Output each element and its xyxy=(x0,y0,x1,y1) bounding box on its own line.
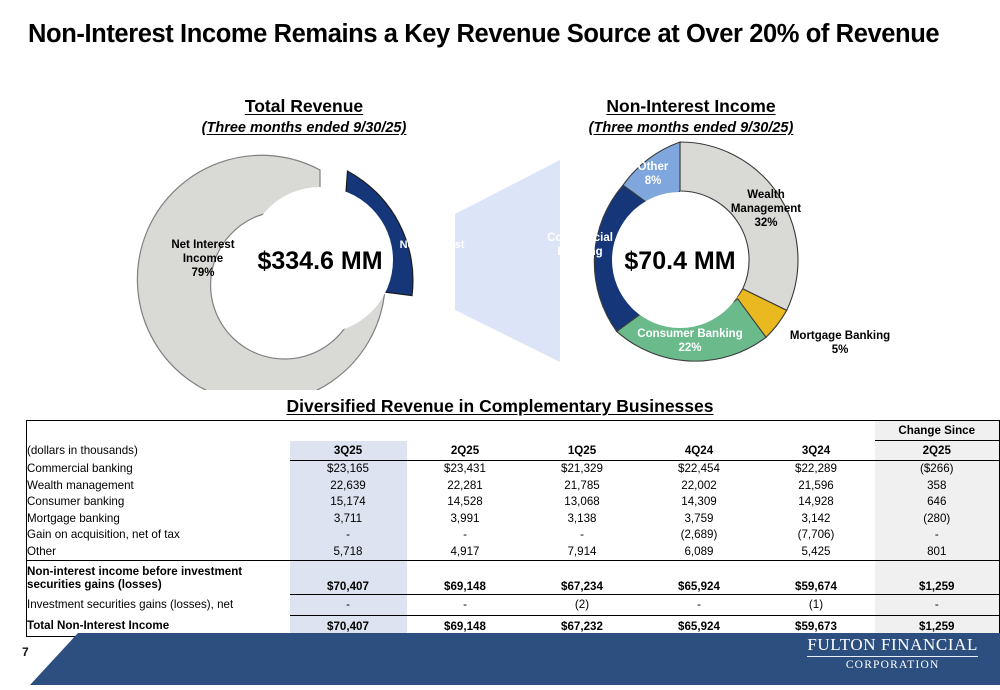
svg-text:Management: Management xyxy=(731,203,801,215)
right-slice-value-wealth: 32% xyxy=(754,217,777,229)
securities-label: Investment securities gains (losses), ne… xyxy=(27,595,290,616)
row-label: Mortgage banking xyxy=(27,511,290,528)
col-header-4q24: 4Q24 xyxy=(641,441,758,461)
table-row: Mortgage banking 3,711 3,991 3,138 3,759… xyxy=(27,511,1000,528)
table-securities-row: Investment securities gains (losses), ne… xyxy=(27,595,1000,616)
cell-3q25: 15,174 xyxy=(290,494,407,511)
right-slice-value-commercial: 33% xyxy=(568,260,591,272)
charts-area: $334.6 MM Net Interest Income 79% Non-In… xyxy=(0,130,1000,390)
cell-3q24: $22,289 xyxy=(758,461,875,478)
cell-3q25: - xyxy=(290,527,407,544)
cell-3q25: 3,711 xyxy=(290,511,407,528)
cell-change: 358 xyxy=(875,478,1000,495)
subtotal-3q24: $59,674 xyxy=(758,561,875,595)
cell-1q25: 3,138 xyxy=(524,511,641,528)
cell-1q25: - xyxy=(524,527,641,544)
svg-text:Banking: Banking xyxy=(557,246,602,258)
securities-4q24: - xyxy=(641,595,758,616)
cell-4q24: $22,454 xyxy=(641,461,758,478)
right-slice-label-wealth: Wealth xyxy=(747,189,785,201)
securities-1q25: (2) xyxy=(524,595,641,616)
cell-change: (280) xyxy=(875,511,1000,528)
logo-secondary-text: CORPORATION xyxy=(807,659,978,671)
table-row: Gain on acquisition, net of tax - - - (2… xyxy=(27,527,1000,544)
cell-4q24: 22,002 xyxy=(641,478,758,495)
row-label: Wealth management xyxy=(27,478,290,495)
row-label: Commercial banking xyxy=(27,461,290,478)
units-note: (dollars in thousands) xyxy=(27,441,290,461)
col-header-3q25: 3Q25 xyxy=(290,441,407,461)
cell-3q24: 5,425 xyxy=(758,544,875,561)
page-number: 7 xyxy=(22,645,29,659)
securities-change: - xyxy=(875,595,1000,616)
financial-table: Change Since (dollars in thousands) 3Q25… xyxy=(26,420,1000,637)
left-slice-label-net-interest: Net Interest xyxy=(171,239,234,251)
company-logo: FULTON FINANCIAL CORPORATION xyxy=(807,635,978,671)
change-since-header: Change Since xyxy=(875,421,1000,441)
col-header-3q24: 3Q24 xyxy=(758,441,875,461)
left-slice-value-net-interest: 79% xyxy=(191,267,214,279)
right-donut-chart: $70.4 MM Wealth Management 32% Mortgage … xyxy=(547,142,890,361)
subtotal-2q25: $69,148 xyxy=(407,561,524,595)
logo-primary-text: FULTON FINANCIAL xyxy=(807,635,978,657)
table-row: Consumer banking 15,174 14,528 13,068 14… xyxy=(27,494,1000,511)
table-row: Wealth management 22,639 22,281 21,785 2… xyxy=(27,478,1000,495)
cell-3q24: 3,142 xyxy=(758,511,875,528)
cell-4q24: 3,759 xyxy=(641,511,758,528)
left-slice-label-non-interest: Non-Interest xyxy=(400,239,465,251)
right-slice-value-consumer: 22% xyxy=(678,342,701,354)
right-slice-label-other: Other xyxy=(638,161,669,173)
svg-text:Income: Income xyxy=(183,253,223,265)
page-title: Non-Interest Income Remains a Key Revenu… xyxy=(28,20,978,49)
securities-3q24: (1) xyxy=(758,595,875,616)
subtotal-label: Non-interest income before investment se… xyxy=(27,561,290,595)
cell-2q25: 3,991 xyxy=(407,511,524,528)
cell-2q25: - xyxy=(407,527,524,544)
right-slice-label-mortgage: Mortgage Banking xyxy=(790,330,890,342)
financial-table-wrapper: Change Since (dollars in thousands) 3Q25… xyxy=(26,420,974,637)
subtotal-3q25: $70,407 xyxy=(290,561,407,595)
cell-4q24: (2,689) xyxy=(641,527,758,544)
cell-1q25: 21,785 xyxy=(524,478,641,495)
subtotal-1q25: $67,234 xyxy=(524,561,641,595)
table-title: Diversified Revenue in Complementary Bus… xyxy=(0,396,1000,417)
subtotal-4q24: $65,924 xyxy=(641,561,758,595)
table-row: Other 5,718 4,917 7,914 6,089 5,425 801 xyxy=(27,544,1000,561)
left-chart-title: Total Revenue xyxy=(124,96,484,117)
right-slice-value-other: 8% xyxy=(645,175,662,187)
connector-funnel xyxy=(455,160,560,362)
cell-3q24: 14,928 xyxy=(758,494,875,511)
cell-2q25: 4,917 xyxy=(407,544,524,561)
cell-3q25: 22,639 xyxy=(290,478,407,495)
table-row: Commercial banking $23,165 $23,431 $21,3… xyxy=(27,461,1000,478)
cell-2q25: 14,528 xyxy=(407,494,524,511)
col-header-2q25: 2Q25 xyxy=(407,441,524,461)
subtotal-label-line2: securities gains (losses) xyxy=(27,578,162,591)
donut-charts-svg: $334.6 MM Net Interest Income 79% Non-In… xyxy=(0,130,1000,390)
cell-change: - xyxy=(875,527,1000,544)
cell-2q25: $23,431 xyxy=(407,461,524,478)
right-slice-label-commercial: Commercial xyxy=(547,232,613,244)
cell-1q25: 13,068 xyxy=(524,494,641,511)
right-slice-label-consumer: Consumer Banking xyxy=(637,328,742,340)
securities-2q25: - xyxy=(407,595,524,616)
left-donut-chart: $334.6 MM Net Interest Income 79% Non-In… xyxy=(137,155,464,390)
right-chart-title: Non-Interest Income xyxy=(506,96,876,117)
left-slice-value-non-interest: 21% xyxy=(421,267,443,279)
cell-1q25: 7,914 xyxy=(524,544,641,561)
cell-2q25: 22,281 xyxy=(407,478,524,495)
svg-text:Income: Income xyxy=(413,253,452,265)
subtotal-label-line1: Non-interest income before investment xyxy=(27,565,242,578)
right-slice-value-mortgage: 5% xyxy=(832,344,849,356)
securities-3q25: - xyxy=(290,595,407,616)
cell-4q24: 6,089 xyxy=(641,544,758,561)
table-group-header-row: Change Since xyxy=(27,421,1000,441)
cell-change: 646 xyxy=(875,494,1000,511)
row-label: Gain on acquisition, net of tax xyxy=(27,527,290,544)
col-header-1q25: 1Q25 xyxy=(524,441,641,461)
cell-1q25: $21,329 xyxy=(524,461,641,478)
slide: Non-Interest Income Remains a Key Revenu… xyxy=(0,0,1000,685)
subtotal-change: $1,259 xyxy=(875,561,1000,595)
cell-4q24: 14,309 xyxy=(641,494,758,511)
cell-change: ($266) xyxy=(875,461,1000,478)
table-subtotal-row: Non-interest income before investment se… xyxy=(27,561,1000,595)
cell-change: 801 xyxy=(875,544,1000,561)
left-center-value: $334.6 MM xyxy=(257,247,382,275)
cell-3q24: (7,706) xyxy=(758,527,875,544)
cell-3q25: $23,165 xyxy=(290,461,407,478)
right-center-value: $70.4 MM xyxy=(624,247,735,275)
col-header-change-2q25: 2Q25 xyxy=(875,441,1000,461)
cell-3q24: 21,596 xyxy=(758,478,875,495)
row-label: Other xyxy=(27,544,290,561)
cell-3q25: 5,718 xyxy=(290,544,407,561)
row-label: Consumer banking xyxy=(27,494,290,511)
table-header-row: (dollars in thousands) 3Q25 2Q25 1Q25 4Q… xyxy=(27,441,1000,461)
